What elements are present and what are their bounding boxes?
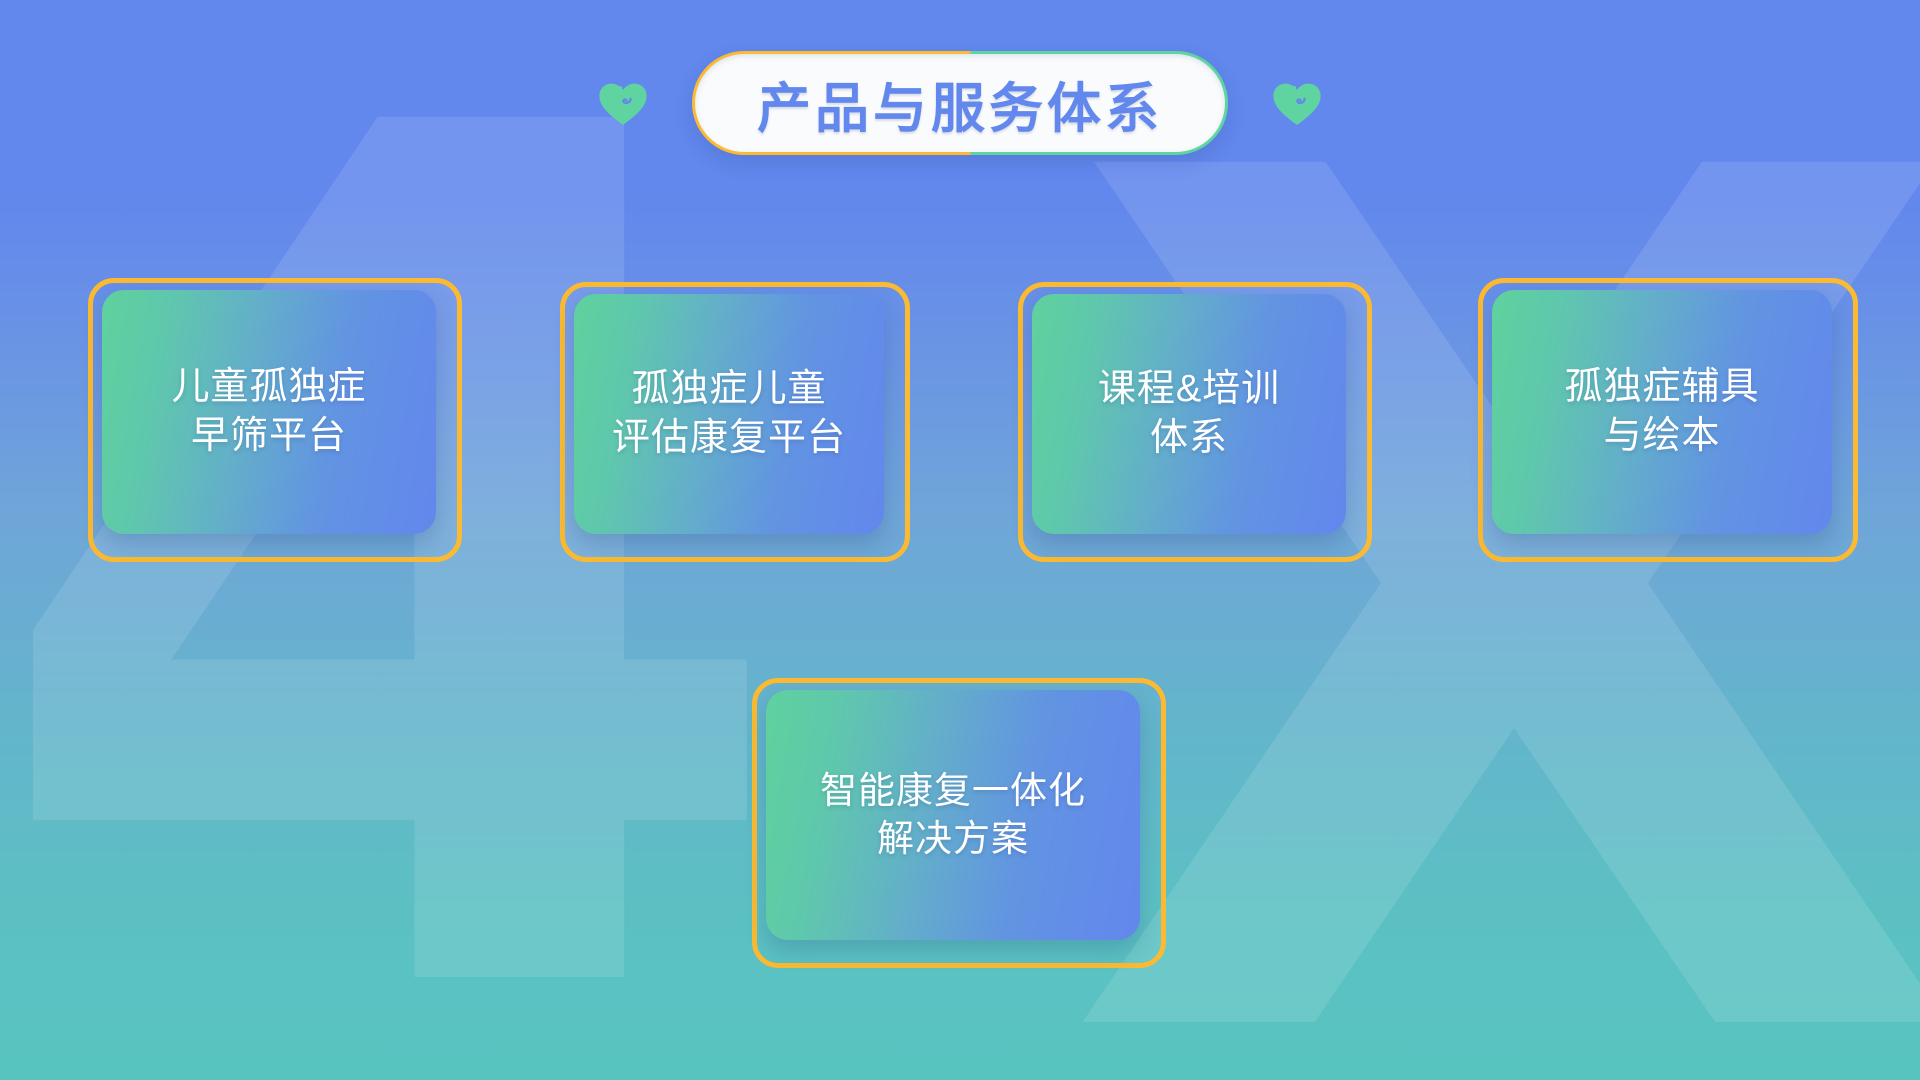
title-row: 产品与服务体系 bbox=[0, 48, 1920, 158]
page-title: 产品与服务体系 bbox=[757, 64, 1163, 143]
card-body: 课程&培训 体系 bbox=[1032, 294, 1346, 534]
card-label: 孤独症儿童 评估康复平台 bbox=[612, 365, 846, 464]
title-banner: 产品与服务体系 bbox=[692, 51, 1228, 155]
service-card-aids-picturebooks[interactable]: 孤独症辅具 与绘本 bbox=[1478, 278, 1858, 562]
service-card-early-screening[interactable]: 儿童孤独症 早筛平台 bbox=[88, 278, 462, 562]
card-label: 孤独症辅具 与绘本 bbox=[1564, 363, 1759, 462]
heart-hand-icon-right bbox=[1270, 76, 1324, 130]
service-card-assessment-rehab[interactable]: 孤独症儿童 评估康复平台 bbox=[560, 282, 910, 562]
card-label: 智能康复一体化 解决方案 bbox=[820, 767, 1086, 863]
heart-hand-icon-left bbox=[596, 76, 650, 130]
card-body: 智能康复一体化 解决方案 bbox=[766, 690, 1140, 940]
card-label: 课程&培训 体系 bbox=[1098, 365, 1280, 464]
background-watermark-four: 4 bbox=[0, 120, 740, 1080]
card-body: 孤独症儿童 评估康复平台 bbox=[574, 294, 884, 534]
service-card-integrated-solution[interactable]: 智能康复一体化 解决方案 bbox=[752, 678, 1166, 968]
card-body: 儿童孤独症 早筛平台 bbox=[102, 290, 436, 534]
title-banner-inner: 产品与服务体系 bbox=[695, 54, 1225, 152]
service-card-course-training[interactable]: 课程&培训 体系 bbox=[1018, 282, 1372, 562]
card-label: 儿童孤独症 早筛平台 bbox=[171, 363, 366, 462]
slide-canvas: 4 X 产品与服务体系 bbox=[0, 0, 1920, 1080]
card-body: 孤独症辅具 与绘本 bbox=[1492, 290, 1832, 534]
